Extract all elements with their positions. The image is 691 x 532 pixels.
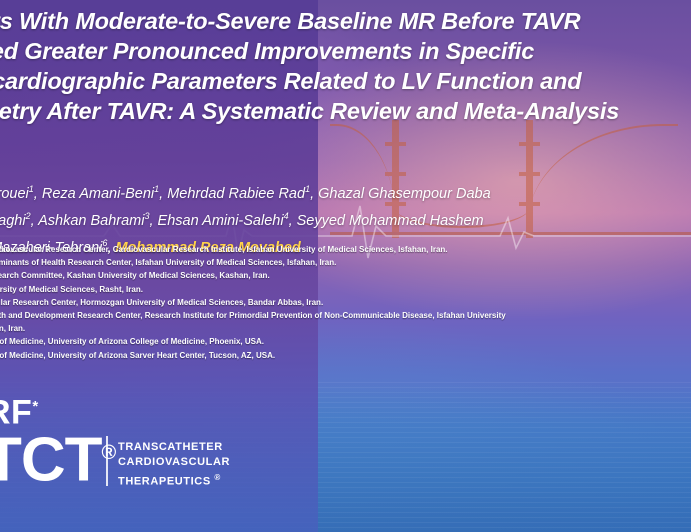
affiliation-item: vascular Research Center, Hormozgan Univ… — [0, 296, 691, 309]
affiliation-item: t Research Committee, Kashan University … — [0, 269, 691, 282]
title-line-2: ved Greater Pronounced Improvements in S… — [0, 36, 691, 66]
presentation-slide: nts With Moderate-to-Severe Baseline MR … — [0, 0, 691, 532]
tct-logo: TCT® — [0, 422, 115, 492]
logo-divider — [106, 436, 108, 486]
affiliation-item: ment of Medicine, University of Arizona … — [0, 335, 691, 348]
slide-title: nts With Moderate-to-Severe Baseline MR … — [0, 6, 691, 126]
title-line-1: nts With Moderate-to-Severe Baseline MR … — [0, 6, 691, 36]
affiliation-item: Determinants of Health Research Center, … — [0, 256, 691, 269]
tct-wordmark-line-1: TRANSCATHETER — [118, 440, 230, 455]
tct-wordmark: TRANSCATHETER CARDIOVASCULAR THERAPEUTIC… — [118, 440, 230, 490]
affiliation-item: University of Medical Sciences, Rasht, I… — [0, 283, 691, 296]
title-line-3: ocardiographic Parameters Related to LV … — [0, 66, 691, 96]
affiliation-item: sfahan, Iran. — [0, 322, 691, 335]
tct-wordmark-line-2: CARDIOVASCULAR — [118, 455, 230, 470]
affiliation-list: n Cardiovascular Research Center, Cardio… — [0, 243, 691, 362]
author-line-2: shraghi2, Ashkan Bahrami3, Ehsan Amini-S… — [0, 205, 691, 232]
affiliation-item: ment of Medicine, University of Arizona … — [0, 349, 691, 362]
title-line-4: metry After TAVR: A Systematic Review an… — [0, 96, 691, 126]
affiliation-item: Growth and Development Research Center, … — [0, 309, 691, 322]
affiliation-item: n Cardiovascular Research Center, Cardio… — [0, 243, 691, 256]
tct-wordmark-line-3: THERAPEUTICS ® — [118, 470, 230, 490]
author-line-1: Darouei1, Reza Amani-Beni1, Mehrdad Rabi… — [0, 178, 691, 205]
